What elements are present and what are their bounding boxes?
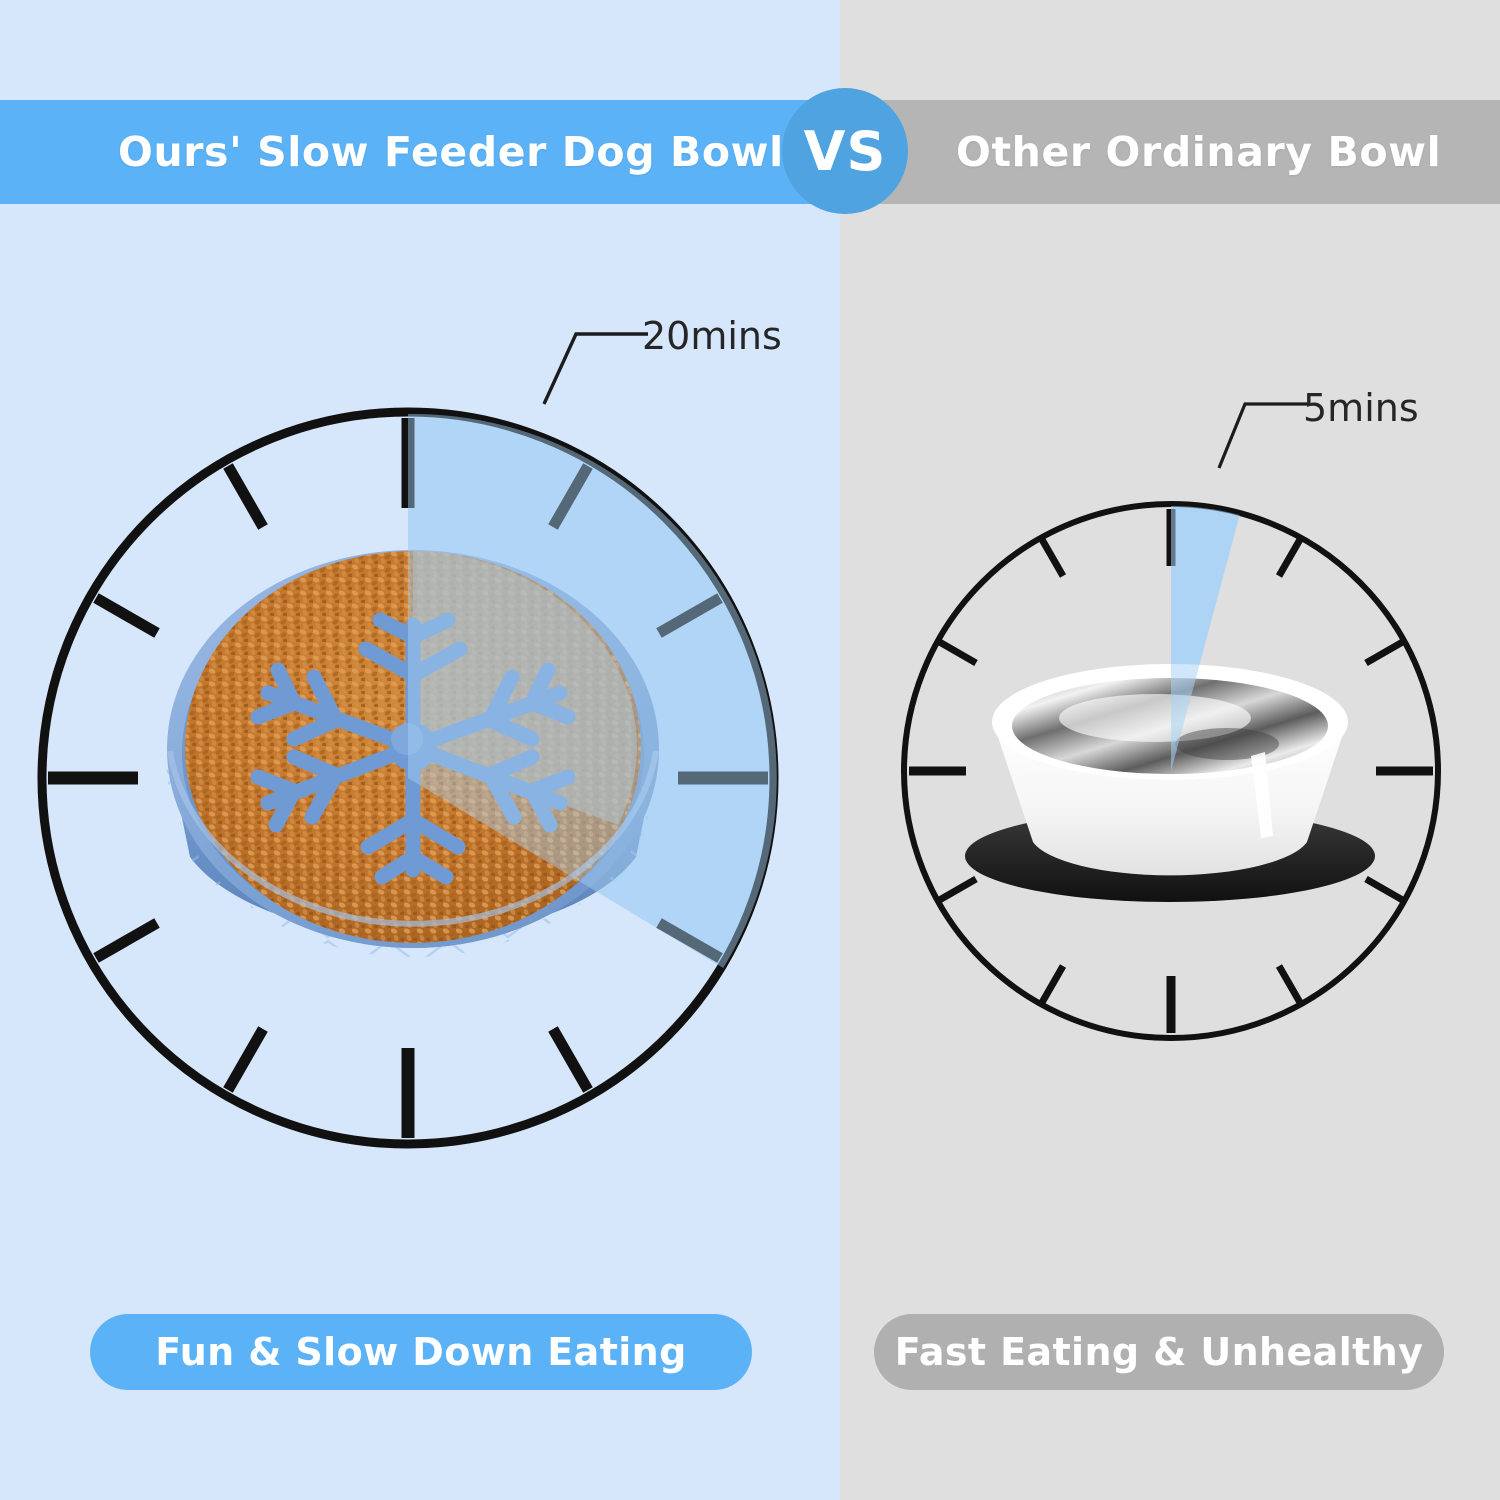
callout-5mins-label: 5mins (1303, 386, 1419, 430)
vs-badge: VS (782, 88, 908, 214)
callout-20mins: 20mins (540, 318, 770, 408)
left-header-title: Ours' Slow Feeder Dog Bowl (118, 128, 784, 176)
callout-20mins-label: 20mins (642, 314, 782, 358)
right-footer-pill: Fast Eating & Unhealthy (874, 1314, 1444, 1390)
left-footer-pill: Fun & Slow Down Eating (90, 1314, 752, 1390)
snowflake-hub-highlight (391, 723, 423, 755)
right-header-title: Other Ordinary Bowl (956, 128, 1441, 176)
right-footer-label: Fast Eating & Unhealthy (895, 1330, 1424, 1374)
left-header-banner: Ours' Slow Feeder Dog Bowl (0, 100, 820, 204)
callout-leader-line-left (540, 318, 650, 406)
callout-leader-line-right (1215, 390, 1311, 470)
callout-5mins: 5mins (1215, 390, 1425, 470)
stainless-steel-bowl (955, 660, 1385, 910)
slow-feeder-bowl (118, 525, 708, 1035)
left-footer-label: Fun & Slow Down Eating (155, 1330, 687, 1374)
vs-badge-label: VS (804, 120, 887, 183)
infographic-canvas: 20mins (0, 0, 1500, 1500)
right-header-banner: Other Ordinary Bowl (868, 100, 1500, 204)
